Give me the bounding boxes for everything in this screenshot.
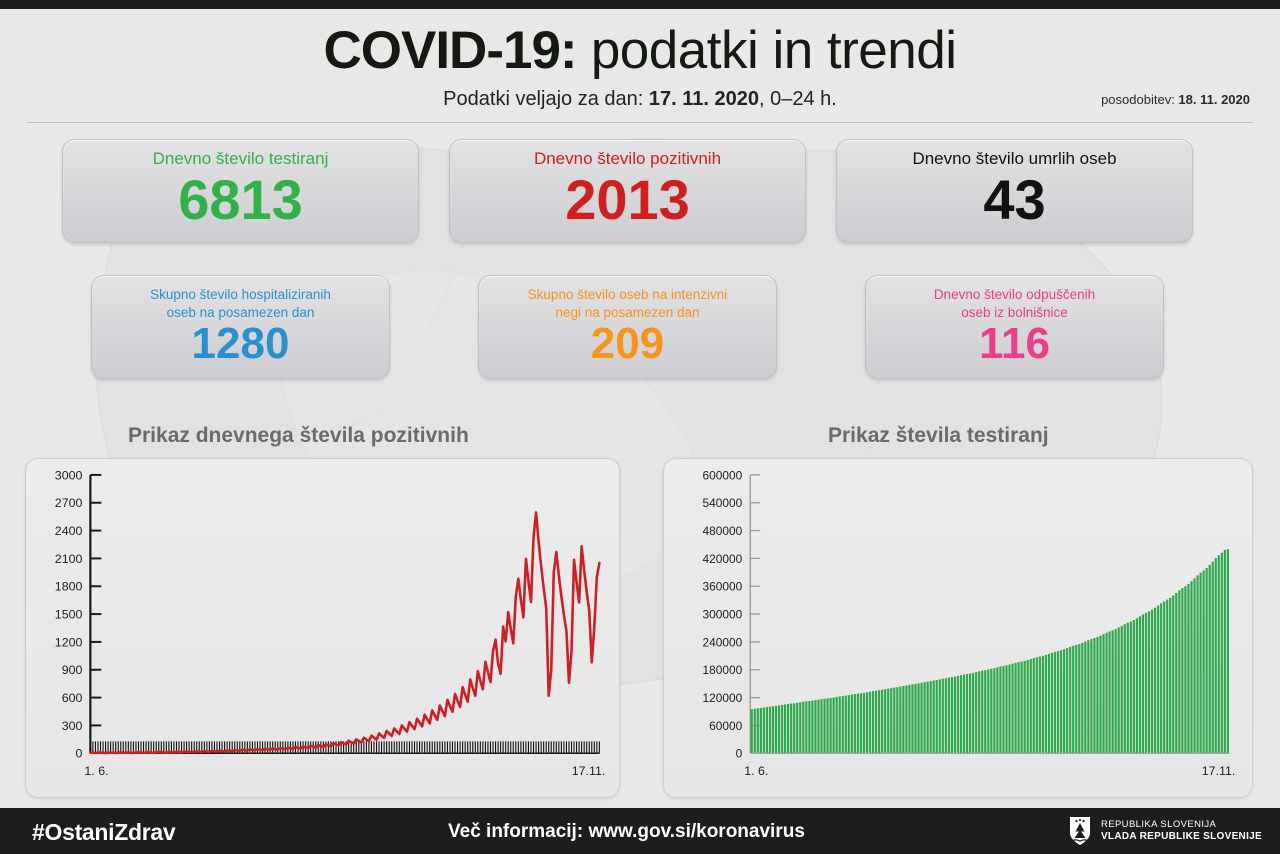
stat-card-daily-tested: Dnevno število testiranj 6813 [62,139,419,243]
updated-label: posodobitev: [1101,92,1178,107]
stat-card-daily-positive: Dnevno število pozitivnih 2013 [449,139,806,243]
svg-text:0: 0 [736,747,743,761]
gov-line-government: VLADA REPUBLIKE SLOVENIJE [1101,831,1262,844]
svg-text:240000: 240000 [703,635,743,649]
stat-card-value: 1280 [92,322,389,366]
stat-card-label: Dnevno število odpuščenih oseb iz bolniš… [866,276,1163,321]
updated-date: 18. 11. 2020 [1178,92,1250,107]
page-title: COVID-19: podatki in trendi [0,9,1280,79]
line-chart-daily-positive: 030060090012001500180021002400270030001.… [26,459,619,797]
svg-text:180000: 180000 [703,663,743,677]
header-divider [27,122,1253,123]
stat-card-value: 43 [837,172,1192,228]
svg-text:60000: 60000 [709,719,742,733]
svg-text:3000: 3000 [55,468,83,482]
svg-text:1800: 1800 [55,580,83,594]
stat-card-label: Dnevno število pozitivnih [450,140,805,170]
government-logo: REPUBLIKA SLOVENIJA VLADA REPUBLIKE SLOV… [1068,816,1262,846]
chart-title-tested: Prikaz števila testiranj [828,424,1049,448]
stat-card-value: 209 [479,322,776,366]
svg-text:2700: 2700 [55,496,83,510]
stat-card-discharged: Dnevno število odpuščenih oseb iz bolniš… [865,275,1164,379]
svg-text:540000: 540000 [703,496,743,510]
chart-panel-tested: 0600001200001800002400003000003600004200… [663,458,1253,798]
stat-card-value: 2013 [450,172,805,228]
subtitle-suffix: , 0–24 h. [759,88,837,110]
stat-card-label-line1: Dnevno število odpuščenih [866,286,1163,304]
stat-card-label: Dnevno število umrlih oseb [837,140,1192,170]
stat-card-intensive-care: Skupno število oseb na intenzivni negi n… [478,275,777,379]
more-info-link[interactable]: Več informacij: www.gov.si/koronavirus [448,821,805,843]
stat-card-label-line1: Skupno število hospitaliziranih [92,286,389,304]
stat-card-label: Skupno število hospitaliziranih oseb na … [92,276,389,321]
stat-card-daily-deaths: Dnevno število umrlih oseb 43 [836,139,1193,243]
gov-line-republic: REPUBLIKA SLOVENIJA [1101,819,1262,831]
top-strip [0,0,1280,9]
svg-text:0: 0 [76,747,83,761]
svg-text:420000: 420000 [703,552,743,566]
subtitle-prefix: Podatki veljajo za dan: [443,88,649,110]
svg-text:600000: 600000 [703,468,743,482]
hashtag-label: #OstaniZdrav [32,819,175,846]
chart-panel-daily-positive: 030060090012001500180021002400270030001.… [25,458,620,798]
coat-of-arms-icon [1068,816,1092,846]
last-updated: posodobitev: 18. 11. 2020 [1101,92,1250,107]
footer: #OstaniZdrav Več informacij: www.gov.si/… [0,808,1280,854]
stat-card-value: 6813 [63,172,418,228]
government-text: REPUBLIKA SLOVENIJA VLADA REPUBLIKE SLOV… [1101,819,1262,843]
chart-title-daily-positive: Prikaz dnevnega števila pozitivnih [128,424,469,448]
svg-text:900: 900 [62,663,83,677]
svg-text:17.11.: 17.11. [572,764,606,778]
svg-text:2400: 2400 [55,524,83,538]
stat-card-label: Skupno število oseb na intenzivni negi n… [479,276,776,321]
stat-card-value: 116 [866,322,1163,366]
svg-text:2100: 2100 [55,552,83,566]
svg-text:17.11.: 17.11. [1202,764,1236,778]
stat-card-hospitalized: Skupno število hospitaliziranih oseb na … [91,275,390,379]
svg-text:1500: 1500 [55,608,83,622]
stat-card-label-line1: Skupno število oseb na intenzivni [479,286,776,304]
stat-card-label: Dnevno število testiranj [63,140,418,170]
svg-text:600: 600 [62,691,83,705]
svg-text:1. 6.: 1. 6. [84,764,108,778]
header: COVID-19: podatki in trendi Podatki velj… [0,9,1280,114]
svg-text:120000: 120000 [703,691,743,705]
page-title-bold: COVID-19: [323,21,576,80]
subtitle-date: 17. 11. 2020 [649,88,759,110]
svg-text:360000: 360000 [703,580,743,594]
svg-text:1. 6.: 1. 6. [744,764,768,778]
svg-text:1200: 1200 [55,635,83,649]
subtitle-row: Podatki veljajo za dan: 17. 11. 2020, 0–… [0,88,1280,114]
page-title-rest: podatki in trendi [577,21,957,80]
svg-text:300: 300 [62,719,83,733]
svg-text:300000: 300000 [703,608,743,622]
svg-text:480000: 480000 [703,524,743,538]
bar-chart-tested: 0600001200001800002400003000003600004200… [664,459,1252,797]
